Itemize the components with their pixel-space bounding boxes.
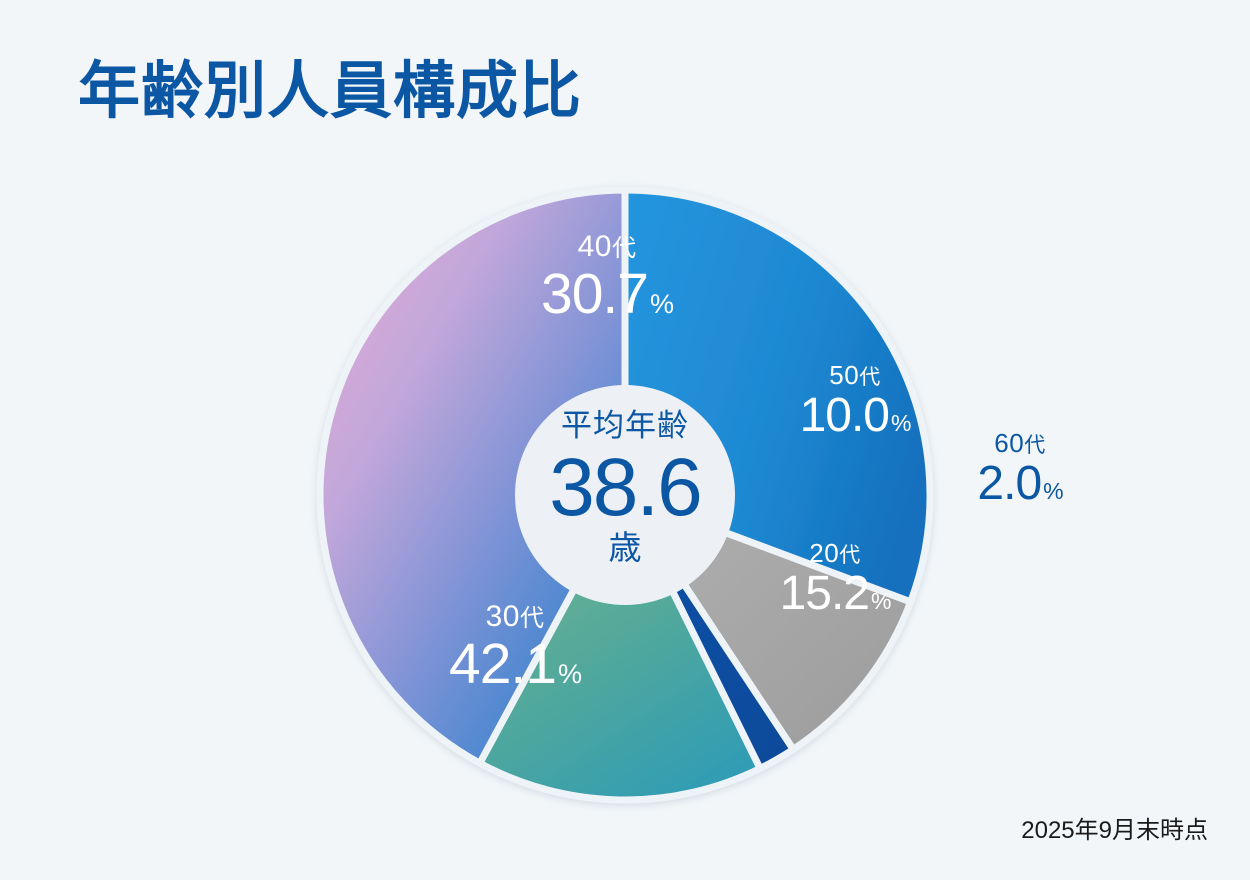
chart-page: 年齢別人員構成比 — [0, 0, 1250, 880]
pie-chart — [0, 0, 1250, 880]
footnote: 2025年9月末時点 — [1021, 810, 1208, 845]
pie-chart-svg — [0, 0, 1250, 880]
donut-center-circle — [515, 385, 735, 605]
